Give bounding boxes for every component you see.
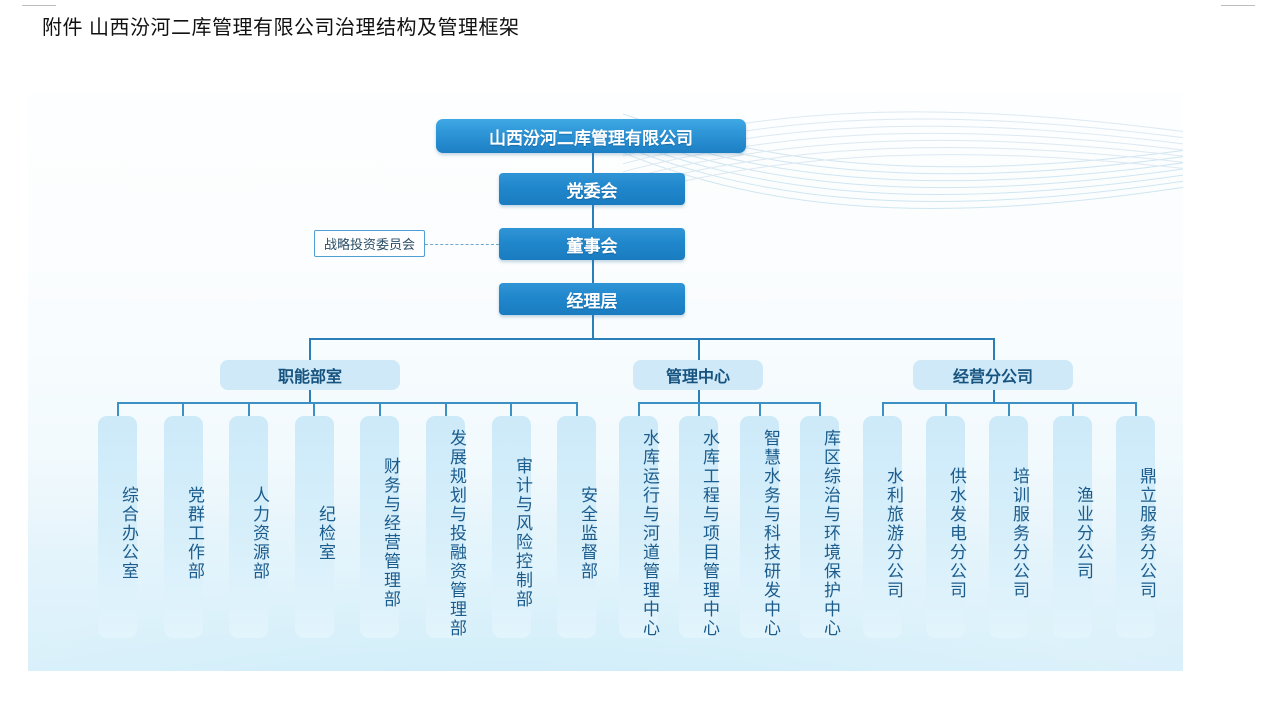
connector-committee-to-board — [425, 244, 499, 245]
node-functional-department[interactable]: 财务与经营管理部 — [360, 416, 399, 638]
node-functional-department[interactable]: 人力资源部 — [229, 416, 268, 638]
node-category-branch-companies-label: 经营分公司 — [953, 363, 1033, 387]
connector-category-bus — [309, 338, 995, 340]
node-branch-company-label: 鼎立服务分公司 — [1137, 467, 1155, 600]
node-category-management-centers[interactable]: 管理中心 — [633, 360, 763, 390]
connector-centers-down — [698, 390, 700, 402]
connector-party-to-board — [592, 205, 594, 228]
crop-mark-left — [22, 5, 56, 6]
connector-stub-bc-2 — [1008, 402, 1010, 416]
connector-stub-fd-3 — [313, 402, 315, 416]
node-category-management-centers-label: 管理中心 — [666, 363, 730, 387]
node-management-layer[interactable]: 经理层 — [499, 283, 685, 315]
node-management-center-label: 库区综治与环境保护中心 — [821, 429, 839, 638]
connector-stub-mc-0 — [638, 402, 640, 416]
connector-centers-leaf-bus — [638, 402, 819, 404]
node-functional-department-label: 安全监督部 — [578, 486, 596, 581]
connector-bus-to-functional — [309, 338, 311, 360]
node-functional-department-label: 纪检室 — [316, 505, 334, 562]
node-functional-department-label: 审计与风险控制部 — [513, 457, 531, 609]
node-branch-company[interactable]: 培训服务分公司 — [989, 416, 1028, 638]
node-functional-department[interactable]: 安全监督部 — [557, 416, 596, 638]
connector-functional-down — [309, 390, 311, 402]
node-company[interactable]: 山西汾河二库管理有限公司 — [436, 119, 746, 153]
node-functional-department-label: 综合办公室 — [119, 486, 137, 581]
connector-functional-leaf-bus — [117, 402, 576, 404]
connector-stub-bc-1 — [945, 402, 947, 416]
node-functional-department-label: 党群工作部 — [185, 486, 203, 581]
node-functional-department[interactable]: 综合办公室 — [98, 416, 137, 638]
connector-stub-fd-5 — [445, 402, 447, 416]
node-party-committee-label: 党委会 — [567, 177, 618, 202]
node-category-functional-departments-label: 职能部室 — [278, 363, 342, 387]
node-category-functional-departments[interactable]: 职能部室 — [220, 360, 400, 390]
node-branch-company-label: 培训服务分公司 — [1010, 467, 1028, 600]
connector-stub-fd-7 — [576, 402, 578, 416]
connector-bus-to-centers — [698, 338, 700, 360]
node-branch-company[interactable]: 鼎立服务分公司 — [1116, 416, 1155, 638]
node-strategic-investment-committee-label: 战略投资委员会 — [324, 234, 415, 253]
node-management-center[interactable]: 库区综治与环境保护中心 — [800, 416, 839, 638]
node-branch-company-label: 供水发电分公司 — [947, 467, 965, 600]
node-management-center-label: 水库工程与项目管理中心 — [700, 429, 718, 638]
node-board[interactable]: 董事会 — [499, 228, 685, 260]
node-management-center[interactable]: 水库工程与项目管理中心 — [679, 416, 718, 638]
connector-stub-fd-0 — [117, 402, 119, 416]
connector-company-to-party — [592, 153, 594, 173]
node-branch-company[interactable]: 渔业分公司 — [1053, 416, 1092, 638]
node-functional-department[interactable]: 党群工作部 — [164, 416, 203, 638]
node-strategic-investment-committee[interactable]: 战略投资委员会 — [314, 230, 425, 257]
connector-stub-bc-3 — [1072, 402, 1074, 416]
connector-stub-fd-2 — [248, 402, 250, 416]
crop-mark-right — [1221, 5, 1255, 6]
connector-board-to-management — [592, 260, 594, 283]
node-functional-department[interactable]: 发展规划与投融资管理部 — [426, 416, 465, 638]
connector-stub-mc-3 — [819, 402, 821, 416]
connector-management-down — [592, 315, 594, 338]
node-management-center[interactable]: 智慧水务与科技研发中心 — [740, 416, 779, 638]
node-branch-company[interactable]: 水利旅游分公司 — [863, 416, 902, 638]
connector-branches-down — [993, 390, 995, 402]
node-functional-department-label: 人力资源部 — [250, 486, 268, 581]
node-functional-department-label: 发展规划与投融资管理部 — [447, 429, 465, 638]
node-management-center-label: 智慧水务与科技研发中心 — [761, 429, 779, 638]
node-management-layer-label: 经理层 — [567, 287, 618, 312]
connector-stub-fd-6 — [510, 402, 512, 416]
page-title: 附件 山西汾河二库管理有限公司治理结构及管理框架 — [42, 14, 520, 42]
connector-stub-fd-1 — [182, 402, 184, 416]
node-party-committee[interactable]: 党委会 — [499, 173, 685, 205]
node-management-center-label: 水库运行与河道管理中心 — [640, 429, 658, 638]
connector-stub-mc-1 — [698, 402, 700, 416]
connector-stub-bc-4 — [1135, 402, 1137, 416]
connector-stub-fd-4 — [379, 402, 381, 416]
node-functional-department[interactable]: 审计与风险控制部 — [492, 416, 531, 638]
connector-stub-bc-0 — [882, 402, 884, 416]
node-branch-company[interactable]: 供水发电分公司 — [926, 416, 965, 638]
connector-stub-mc-2 — [759, 402, 761, 416]
node-functional-department-label: 财务与经营管理部 — [381, 457, 399, 609]
connector-bus-to-branches — [993, 338, 995, 360]
node-functional-department[interactable]: 纪检室 — [295, 416, 334, 638]
node-category-branch-companies[interactable]: 经营分公司 — [913, 360, 1073, 390]
node-management-center[interactable]: 水库运行与河道管理中心 — [619, 416, 658, 638]
node-branch-company-label: 渔业分公司 — [1074, 486, 1092, 581]
node-board-label: 董事会 — [567, 232, 618, 257]
node-company-label: 山西汾河二库管理有限公司 — [489, 124, 693, 149]
org-chart-canvas: 山西汾河二库管理有限公司 党委会 董事会 战略投资委员会 经理层 职能部室 管理… — [28, 93, 1183, 671]
decorative-wave-lines — [623, 93, 1183, 243]
node-branch-company-label: 水利旅游分公司 — [884, 467, 902, 600]
